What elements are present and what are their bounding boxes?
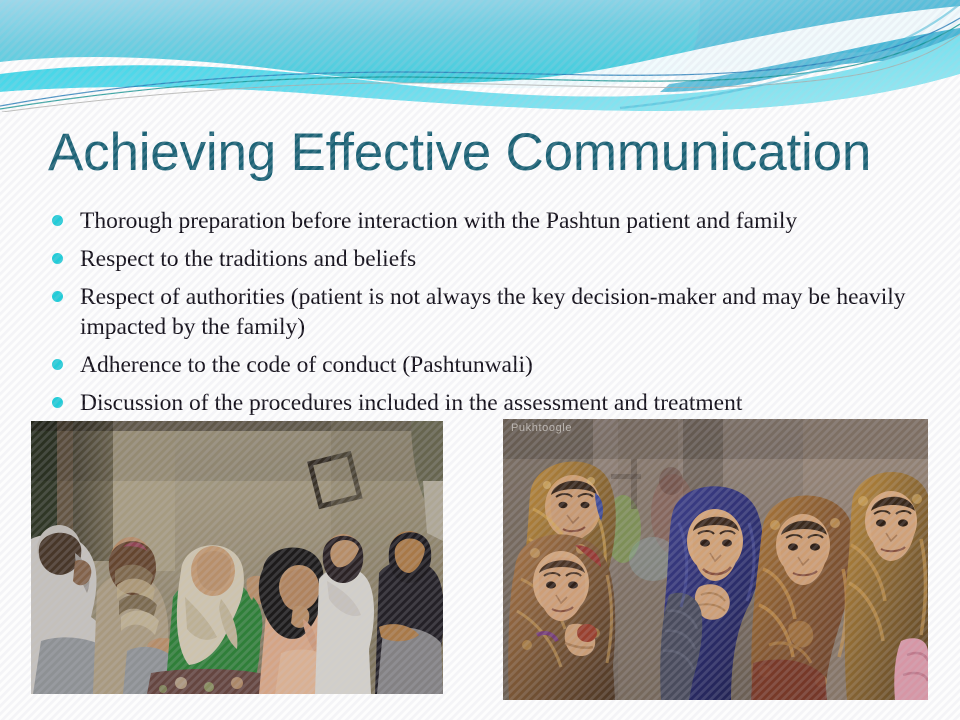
bullet-dot-icon: [52, 253, 63, 264]
bullet-dot-icon: [52, 359, 63, 370]
list-item: Adherence to the code of conduct (Pashtu…: [52, 350, 922, 380]
list-item-text: Thorough preparation before interaction …: [80, 206, 922, 236]
list-item: Discussion of the procedures included in…: [52, 388, 922, 418]
list-item: Respect of authorities (patient is not a…: [52, 282, 922, 342]
slide-body-bullet-list: Thorough preparation before interaction …: [52, 206, 922, 426]
header-wave-banner: [0, 0, 960, 112]
bullet-dot-icon: [52, 397, 63, 408]
list-item-text: Discussion of the procedures included in…: [80, 388, 922, 418]
bullet-dot-icon: [52, 291, 63, 302]
presentation-slide: Achieving Effective Communication Thorou…: [0, 0, 960, 720]
list-item-text: Respect of authorities (patient is not a…: [80, 282, 922, 342]
list-item-text: Adherence to the code of conduct (Pashtu…: [80, 350, 922, 380]
photo-pashtun-women: [31, 421, 443, 694]
list-item-text: Respect to the traditions and beliefs: [80, 244, 922, 274]
list-item: Thorough preparation before interaction …: [52, 206, 922, 236]
photo-pashtun-children: Pukhtoogle: [503, 419, 928, 700]
list-item: Respect to the traditions and beliefs: [52, 244, 922, 274]
bullet-dot-icon: [52, 215, 63, 226]
slide-title: Achieving Effective Communication: [48, 123, 928, 183]
